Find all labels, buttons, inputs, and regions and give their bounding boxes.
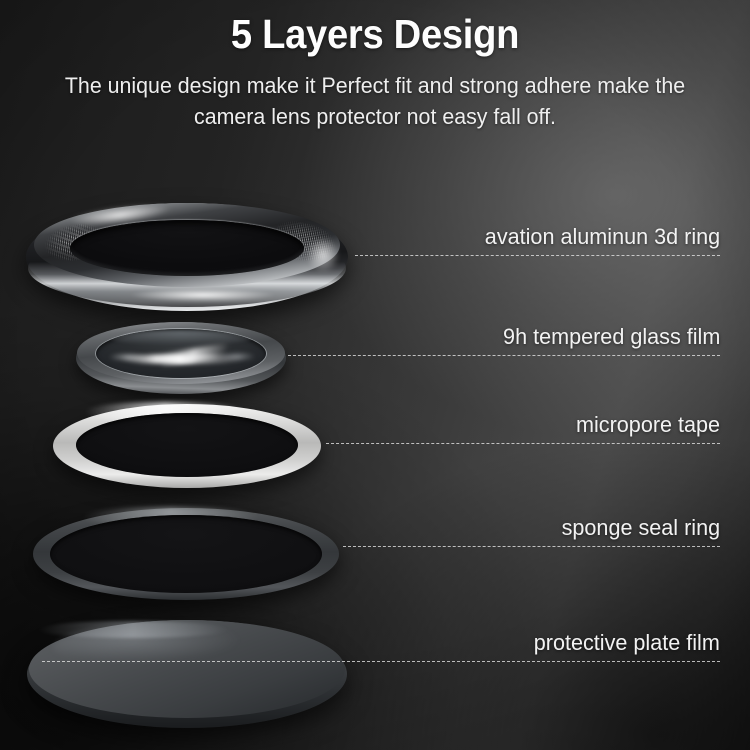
callout-sponge-seal-ring: sponge seal ring (343, 503, 720, 547)
layer-sponge-seal-ring (33, 508, 339, 600)
page-subtitle: The unique design make it Perfect fit an… (53, 70, 697, 132)
callout-label-protective-plate-film: protective plate film (534, 630, 720, 656)
ring-center-hole (70, 220, 304, 276)
sponge-center-hole (50, 515, 322, 593)
callout-aviation-aluminum-3d-ring: avation aluminun 3d ring (355, 212, 720, 256)
leader-line-micropore-tape (326, 443, 720, 444)
callout-micropore-tape: micropore tape (326, 400, 720, 444)
callout-tempered-glass-film: 9h tempered glass film (288, 312, 720, 356)
layer-aviation-aluminum-3d-ring (26, 203, 348, 311)
callout-protective-plate-film: protective plate film (42, 618, 720, 662)
glass-dome (96, 329, 266, 378)
product-infographic: 5 Layers Design The unique design make i… (0, 0, 750, 750)
leader-line-sponge-seal-ring (343, 546, 720, 547)
leader-line-protective-plate-film (42, 661, 720, 662)
layer-tempered-glass-film (76, 322, 286, 394)
leader-line-tempered-glass-film (288, 355, 720, 356)
micropore-center-hole (76, 413, 298, 477)
page-title: 5 Layers Design (26, 11, 724, 58)
layer-micropore-tape (53, 404, 321, 488)
callout-label-tempered-glass-film: 9h tempered glass film (503, 324, 720, 350)
callout-label-sponge-seal-ring: sponge seal ring (561, 515, 720, 541)
callout-label-micropore-tape: micropore tape (576, 412, 720, 438)
callout-label-aviation-aluminum-3d-ring: avation aluminun 3d ring (485, 224, 720, 250)
leader-line-aviation-aluminum-3d-ring (355, 255, 720, 256)
